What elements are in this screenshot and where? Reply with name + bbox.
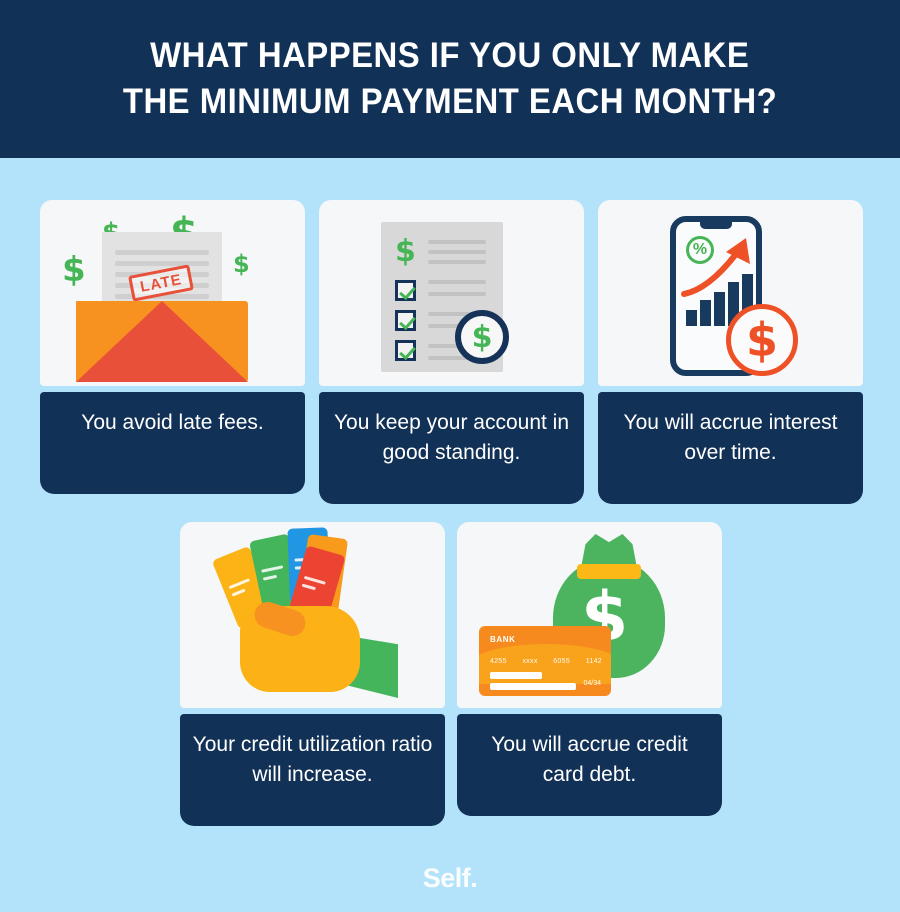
checkbox-icon [395,310,416,331]
illustration-money-bag-card: $ BANK 4255 xxxx 6055 1142 04/34 [457,522,722,708]
envelope-front [76,301,248,382]
card-caption: You will accrue interest over time. [598,392,863,504]
footer: Self. [0,863,900,894]
card-credit-card-debt: $ BANK 4255 xxxx 6055 1142 04/34 You wil… [457,522,722,826]
card-accrue-interest: % $ You will accrue interest over time. [598,200,863,504]
card-row-bottom: Your credit utilization ratio will incre… [180,522,722,826]
header-title-line-1: WHAT HAPPENS IF YOU ONLY MAKE [150,33,749,79]
illustration-phone-chart: % $ [598,200,863,386]
bank-card-expiry: 04/34 [583,680,601,687]
checkbox-icon [395,280,416,301]
bank-card-label: BANK [490,635,516,644]
header-banner: WHAT HAPPENS IF YOU ONLY MAKE THE MINIMU… [0,0,900,158]
dollar-sign-icon: $ [233,250,250,278]
trend-up-arrow-icon [678,228,774,306]
header-title-line-2: THE MINIMUM PAYMENT EACH MONTH? [123,79,777,125]
dollar-sign-icon: $ [395,234,416,269]
card-late-fees: $ $ $ $ LATE You avoid late fees. [40,200,305,504]
card-caption: Your credit utilization ratio will incre… [180,714,445,826]
infographic-page: WHAT HAPPENS IF YOU ONLY MAKE THE MINIMU… [0,0,900,912]
card-row-top: $ $ $ $ LATE You avoid late fees. [40,200,863,504]
bank-card-number: 4255 xxxx 6055 1142 [490,658,602,665]
dollar-coin-icon: $ [455,310,509,364]
money-bag-tie [577,564,641,579]
bank-card-icon: BANK 4255 xxxx 6055 1142 04/34 [479,626,611,696]
card-caption: You avoid late fees. [40,392,305,494]
checkbox-icon [395,340,416,361]
illustration-hand-credit-cards [180,522,445,708]
dollar-sign-icon: $ [62,250,86,290]
card-caption: You will accrue credit card debt. [457,714,722,816]
dollar-coin-icon: $ [726,304,798,376]
card-caption: You keep your account in good standing. [319,392,584,504]
card-good-standing: $ $ You keep your [319,200,584,504]
self-logo: Self. [423,863,478,893]
illustration-checklist: $ $ [319,200,584,386]
illustration-envelope: $ $ $ $ LATE [40,200,305,386]
card-credit-utilization: Your credit utilization ratio will incre… [180,522,445,826]
